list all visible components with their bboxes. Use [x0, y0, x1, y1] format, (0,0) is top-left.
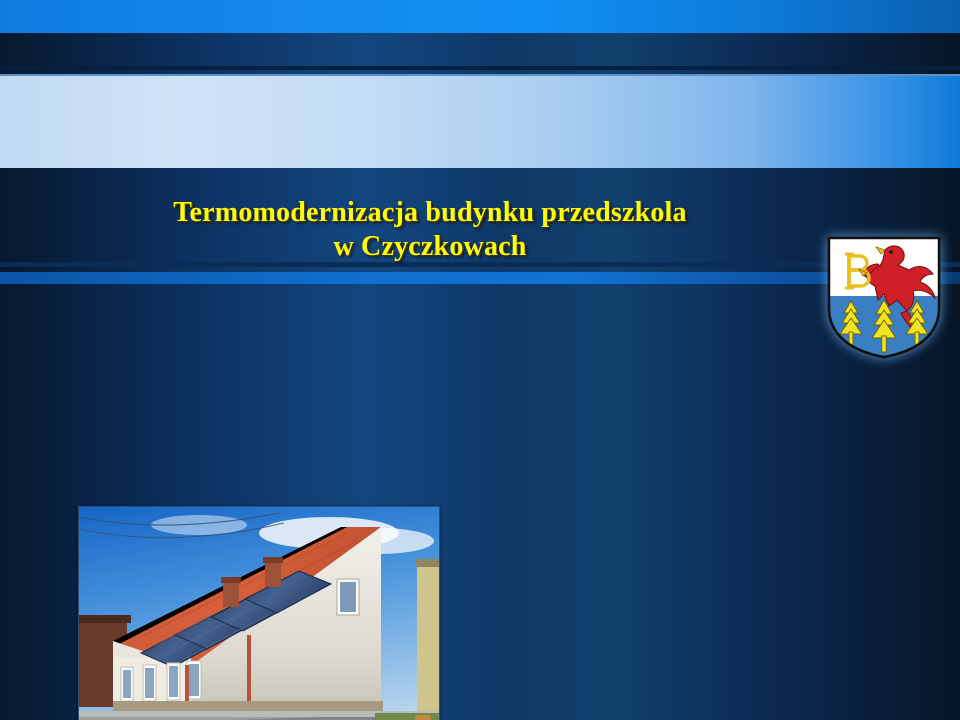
top-blue-strip — [0, 0, 960, 33]
page-title: Termomodernizacja budynku przedszkola w … — [60, 196, 800, 264]
title-banner — [0, 74, 960, 168]
title-banner-bottom-strip — [0, 272, 960, 284]
slide-root: Termomodernizacja budynku przedszkola w … — [0, 0, 960, 720]
photo-building-front-solar — [78, 506, 440, 720]
page-title-line1: Termomodernizacja budynku przedszkola — [60, 196, 800, 230]
coat-of-arms-icon — [823, 234, 945, 361]
top-strip-divider — [0, 66, 960, 70]
page-title-line2: w Czyczkowach — [60, 230, 800, 264]
